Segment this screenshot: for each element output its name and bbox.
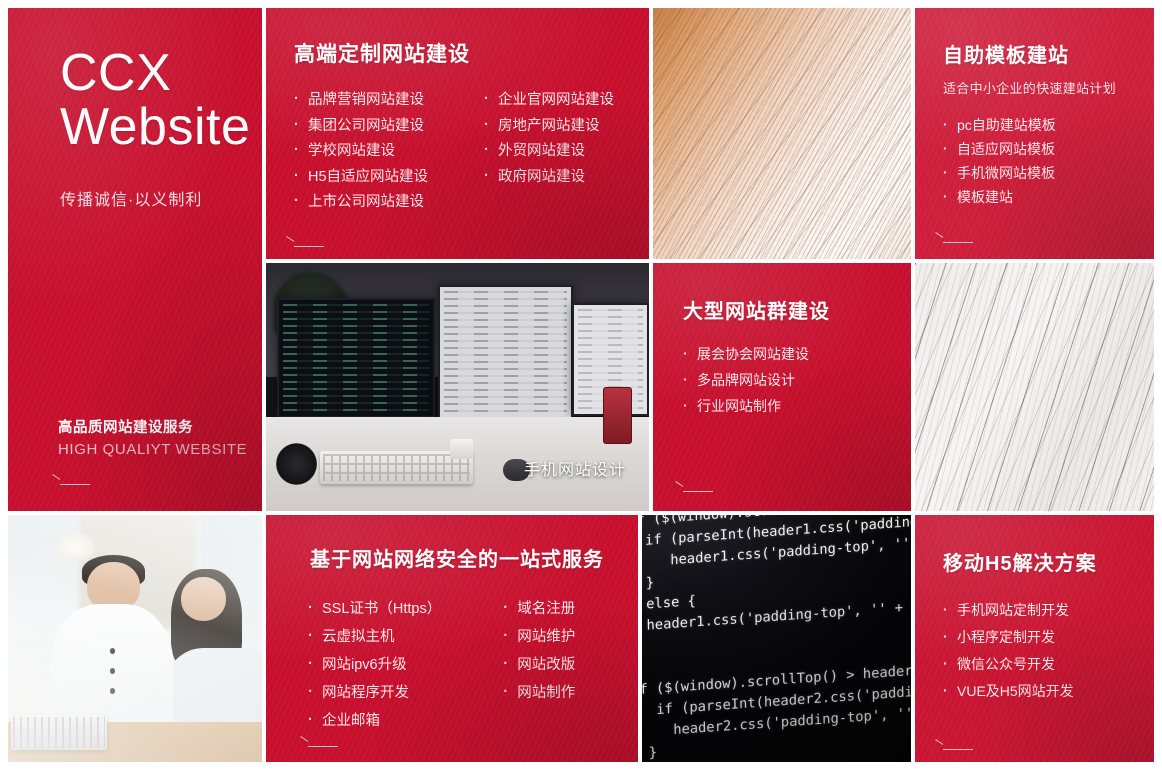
list-item[interactable]: pc自助建站模板 bbox=[943, 113, 1056, 137]
list-item[interactable]: 手机网站定制开发 bbox=[943, 597, 1074, 624]
list-item[interactable]: 多品牌网站设计 bbox=[683, 367, 809, 393]
tile-custom-list-col2: 企业官网网站建设 房地产网站建设 外贸网站建设 政府网站建设 bbox=[484, 88, 614, 216]
list-item[interactable]: 政府网站建设 bbox=[484, 165, 614, 191]
photo-light-haze bbox=[8, 515, 262, 762]
list-item[interactable]: 外贸网站建设 bbox=[484, 139, 614, 165]
list-item[interactable]: 小程序定制开发 bbox=[943, 624, 1074, 651]
list-item[interactable]: VUE及H5网站开发 bbox=[943, 678, 1074, 705]
image-grey-marble bbox=[915, 263, 1154, 511]
screen-glare bbox=[642, 515, 911, 762]
list-item[interactable]: 房地产网站建设 bbox=[484, 114, 614, 140]
people-photo-illustration bbox=[8, 515, 262, 762]
list-item[interactable]: 行业网站制作 bbox=[683, 393, 809, 419]
list-item[interactable]: 自适应网站模板 bbox=[943, 137, 1056, 161]
list-item[interactable]: 云虚拟主机 bbox=[308, 623, 441, 651]
image-office-people bbox=[8, 515, 262, 762]
tile-h5-title: 移动H5解决方案 bbox=[943, 547, 1097, 576]
list-item[interactable]: 企业邮箱 bbox=[308, 707, 441, 735]
list-item[interactable]: 域名注册 bbox=[503, 595, 575, 623]
list-item[interactable]: 网站改版 bbox=[503, 651, 575, 679]
tile-security-list-col1: SSL证书（Https） 云虚拟主机 网站ipv6升级 网站程序开发 企业邮箱 bbox=[308, 595, 441, 735]
photo-phone bbox=[603, 387, 632, 444]
list-item[interactable]: 上市公司网站建设 bbox=[294, 190, 428, 216]
brand-line-1: CCX bbox=[60, 46, 250, 100]
image-copper-marble bbox=[653, 8, 911, 259]
photo-headphones bbox=[270, 437, 324, 492]
photo-cup bbox=[450, 439, 473, 459]
tile-h5-list: 手机网站定制开发 小程序定制开发 微信公众号开发 VUE及H5网站开发 bbox=[943, 597, 1074, 705]
list-item[interactable]: 模板建站 bbox=[943, 185, 1056, 209]
tile-template-title: 自助模板建站 bbox=[943, 39, 1069, 68]
hero-panel: CCX Website 传播诚信·以义制利 高品质网站建设服务 HIGH QUA… bbox=[8, 8, 262, 511]
code-photo-illustration: if ($(window).scrollTop() > header1_init… bbox=[642, 515, 911, 762]
photo-monitor-left bbox=[277, 298, 434, 419]
desk-photo-label: 手机网站设计 bbox=[524, 456, 626, 480]
photo-monitor-center bbox=[438, 285, 572, 420]
list-item[interactable]: 微信公众号开发 bbox=[943, 651, 1074, 678]
tile-group-list: 展会协会网站建设 多品牌网站设计 行业网站制作 bbox=[683, 341, 809, 419]
brand-line-2: Website bbox=[60, 100, 250, 154]
list-item[interactable]: 手机微网站模板 bbox=[943, 161, 1056, 185]
list-item[interactable]: 品牌营销网站建设 bbox=[294, 88, 428, 114]
showcase-grid: CCX Website 传播诚信·以义制利 高品质网站建设服务 HIGH QUA… bbox=[8, 8, 1154, 762]
list-item[interactable]: 企业官网网站建设 bbox=[484, 88, 614, 114]
tile-custom-title: 高端定制网站建设 bbox=[294, 38, 470, 68]
tile-group-website[interactable]: 大型网站群建设 展会协会网站建设 多品牌网站设计 行业网站制作 bbox=[653, 263, 911, 511]
brand-slogan: 传播诚信·以义制利 bbox=[60, 186, 202, 210]
tile-mobile-h5[interactable]: 移动H5解决方案 手机网站定制开发 小程序定制开发 微信公众号开发 VUE及H5… bbox=[915, 515, 1154, 762]
tile-group-title: 大型网站群建设 bbox=[683, 295, 830, 324]
hero-footer-cn: 高品质网站建设服务 bbox=[58, 416, 193, 437]
list-item[interactable]: 网站维护 bbox=[503, 623, 575, 651]
list-item[interactable]: 学校网站建设 bbox=[294, 139, 428, 165]
tile-security-list-col2: 域名注册 网站维护 网站改版 网站制作 bbox=[503, 595, 575, 735]
photo-monitor-code bbox=[444, 291, 566, 414]
tile-template-website[interactable]: 自助模板建站 适合中小企业的快速建站计划 pc自助建站模板 自适应网站模板 手机… bbox=[915, 8, 1154, 259]
tile-custom-website[interactable]: 高端定制网站建设 品牌营销网站建设 集团公司网站建设 学校网站建设 H5自适应网… bbox=[266, 8, 649, 259]
tile-security-lists: SSL证书（Https） 云虚拟主机 网站ipv6升级 网站程序开发 企业邮箱 … bbox=[308, 595, 575, 735]
tile-security-title: 基于网站网络安全的一站式服务 bbox=[310, 543, 604, 572]
tile-security-service[interactable]: 基于网站网络安全的一站式服务 SSL证书（Https） 云虚拟主机 网站ipv6… bbox=[266, 515, 638, 762]
tile-custom-lists: 品牌营销网站建设 集团公司网站建设 学校网站建设 H5自适应网站建设 上市公司网… bbox=[294, 88, 614, 216]
image-code-screen: if ($(window).scrollTop() > header1_init… bbox=[642, 515, 911, 762]
tile-template-list: pc自助建站模板 自适应网站模板 手机微网站模板 模板建站 bbox=[943, 113, 1056, 209]
tile-custom-list-col1: 品牌营销网站建设 集团公司网站建设 学校网站建设 H5自适应网站建设 上市公司网… bbox=[294, 88, 428, 216]
list-item[interactable]: 展会协会网站建设 bbox=[683, 341, 809, 367]
list-item[interactable]: 网站程序开发 bbox=[308, 679, 441, 707]
brand-logo: CCX Website bbox=[60, 46, 250, 154]
list-item[interactable]: H5自适应网站建设 bbox=[294, 165, 428, 191]
tile-template-subtitle: 适合中小企业的快速建站计划 bbox=[943, 78, 1116, 97]
list-item[interactable]: 网站制作 bbox=[503, 679, 575, 707]
list-item[interactable]: 网站ipv6升级 bbox=[308, 651, 441, 679]
hero-footer-en: HIGH QUALIYT WEBSITE bbox=[58, 441, 247, 458]
photo-monitor-code bbox=[283, 304, 428, 413]
list-item[interactable]: 集团公司网站建设 bbox=[294, 114, 428, 140]
list-item[interactable]: SSL证书（Https） bbox=[308, 595, 441, 623]
